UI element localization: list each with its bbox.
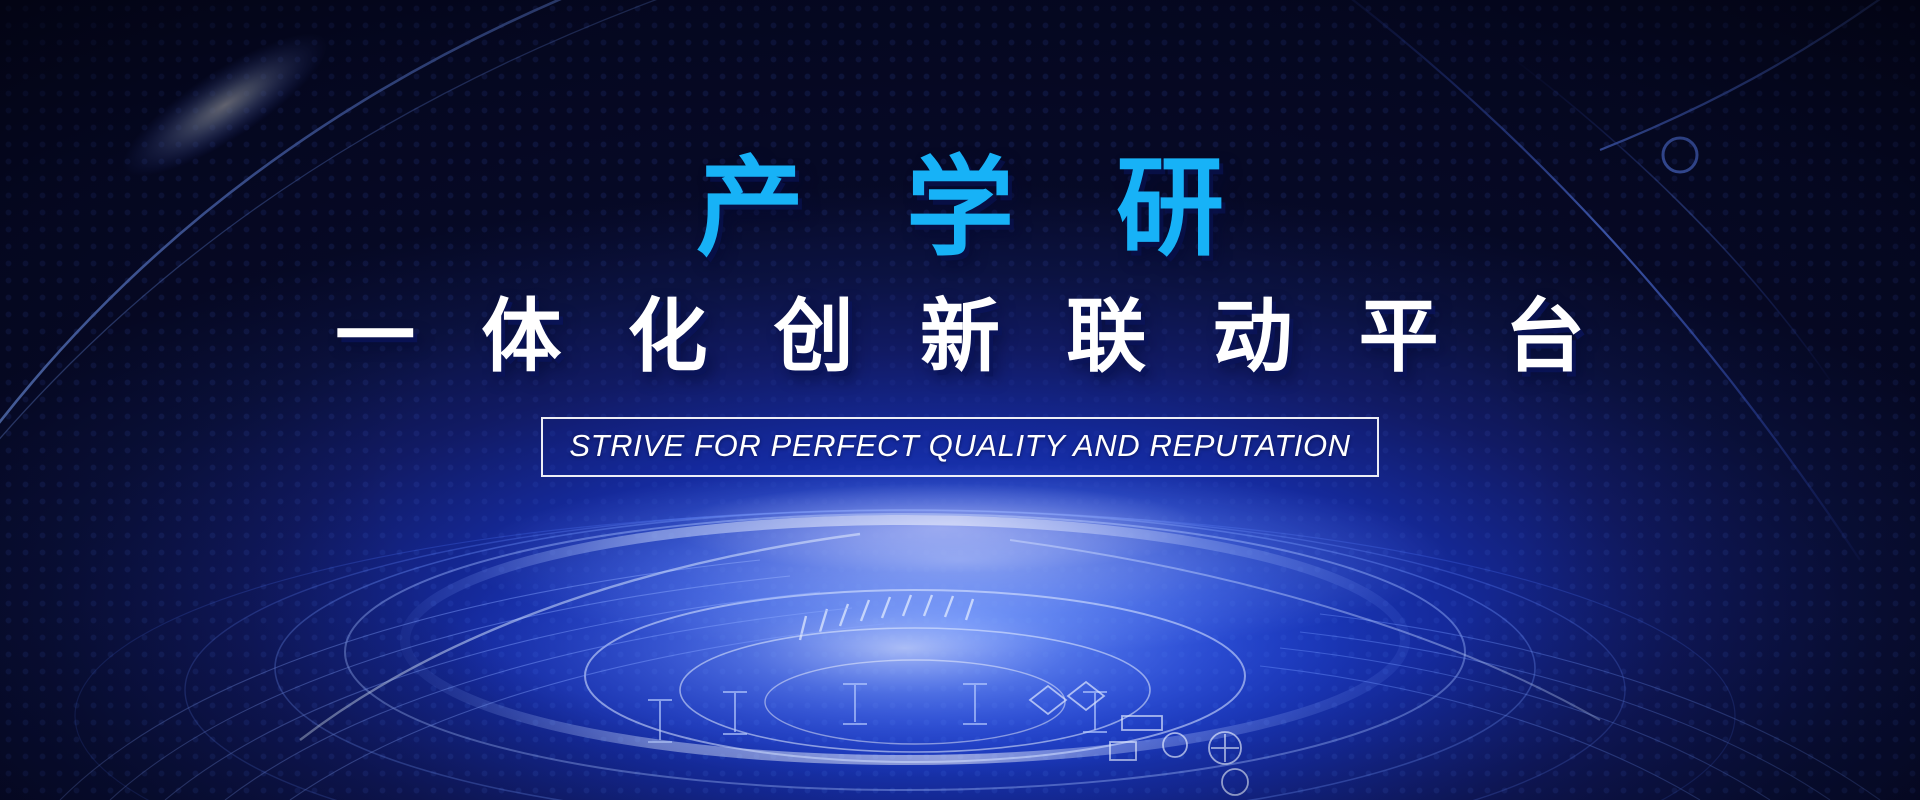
banner-title-main: 产 学 研 [660, 150, 1260, 267]
hero-banner: 产 学 研 一 体 化 创 新 联 动 平 台 STRIVE FOR PERFE… [0, 0, 1920, 800]
slogan-box: STRIVE FOR PERFECT QUALITY AND REPUTATIO… [541, 417, 1378, 477]
banner-content: 产 学 研 一 体 化 创 新 联 动 平 台 STRIVE FOR PERFE… [0, 0, 1920, 800]
banner-title-sub: 一 体 化 创 新 联 动 平 台 [313, 293, 1607, 381]
slogan-text: STRIVE FOR PERFECT QUALITY AND REPUTATIO… [569, 428, 1350, 464]
